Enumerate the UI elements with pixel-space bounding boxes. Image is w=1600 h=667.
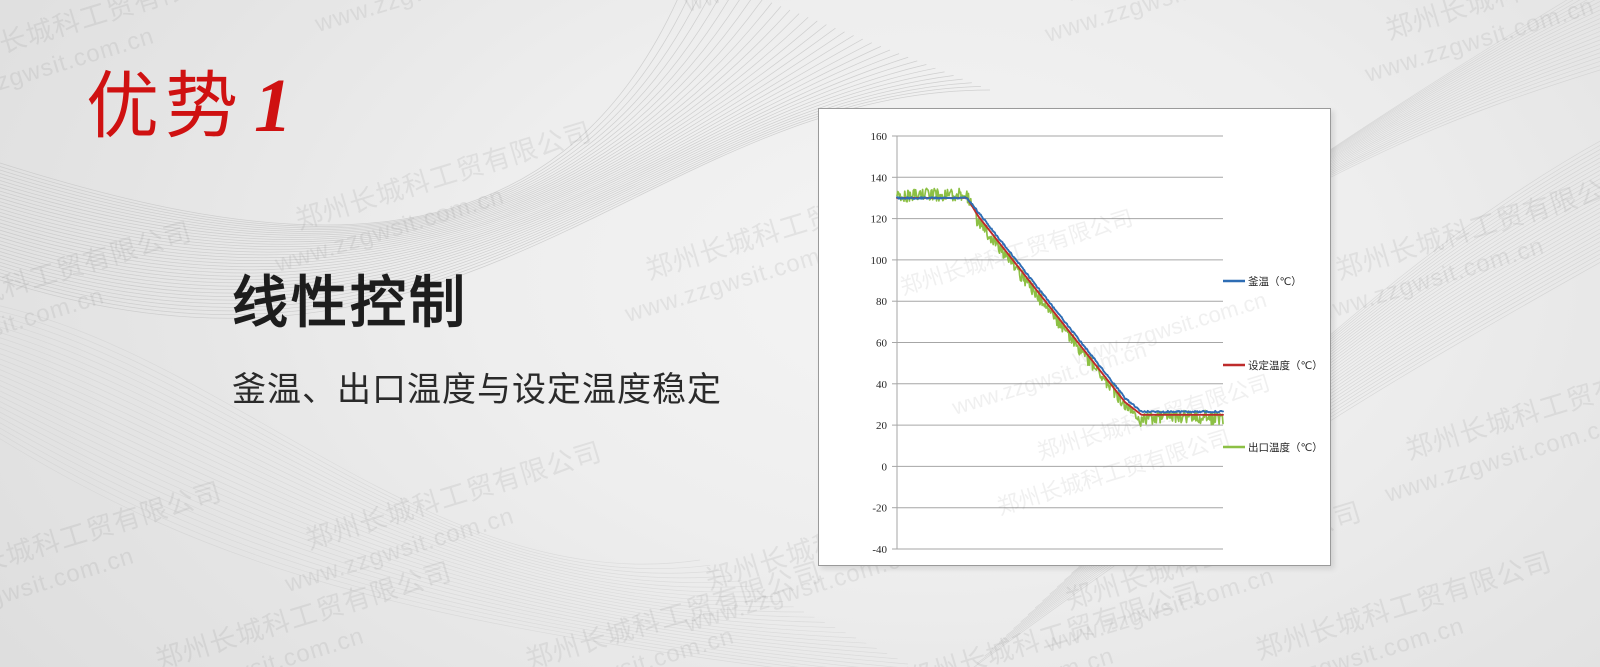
watermark-company: 郑州长城科工贸有限公司: [1380, 0, 1600, 47]
watermark-url: www.zzgwsit.com.cn: [1042, 562, 1278, 658]
legend-label: 设定温度（℃）: [1248, 359, 1323, 372]
eyebrow-label: 优势: [86, 66, 244, 147]
y-axis-tick-label: 0: [882, 461, 888, 473]
chart-inner: 160140120100806040200-20-40 郑州长城科工贸有限公司w…: [825, 115, 1324, 559]
chart-panel: 160140120100806040200-20-40 郑州长城科工贸有限公司w…: [818, 108, 1331, 566]
watermark-company: 郑州长城科工贸有限公司: [1330, 160, 1600, 287]
legend-label: 釜温（℃）: [1248, 275, 1302, 288]
watermark-url: www.zzgwsit.com.cn: [312, 0, 548, 39]
y-axis-tick-label: 160: [871, 131, 888, 143]
watermark-company: 郑州长城科工贸有限公司: [1060, 0, 1366, 7]
legend-label: 出口温度（℃）: [1248, 441, 1323, 454]
chart-series-line: [897, 188, 1223, 426]
watermark-url: www.zzgwsit.com.cn: [502, 622, 738, 667]
watermark-url: www.zzgwsit.com.cn: [272, 182, 508, 278]
y-axis-tick-label: 140: [871, 172, 888, 184]
slide-root: 郑州长城科工贸有限公司www.zzgwsit.com.cn郑州长城科工贸有限公司…: [0, 0, 1600, 667]
watermark-url: www.zzgwsit.com.cn: [1382, 412, 1600, 508]
watermark-url: www.zzgwsit.com.cn: [1232, 612, 1468, 667]
temperature-line-chart: 160140120100806040200-20-40 郑州长城科工贸有限公司w…: [825, 115, 1324, 559]
chart-series: [897, 188, 1223, 426]
chart-y-axis-ticks: 160140120100806040200-20-40: [871, 131, 888, 556]
watermark-url: www.zzgwsit.com.cn: [882, 642, 1118, 667]
chart-watermark-text: www.zzgwsit.com.cn: [1068, 287, 1269, 370]
y-axis-tick-label: 40: [876, 379, 888, 391]
eyebrow-advantage: 优势1: [86, 68, 298, 144]
chart-watermark: 郑州长城科工贸有限公司www.zzgwsit.com.cn郑州长城科工贸有限公司…: [897, 205, 1273, 520]
page-title: 线性控制: [232, 272, 468, 334]
watermark-url: www.zzgwsit.com.cn: [0, 542, 138, 638]
watermark-company: 郑州长城科工贸有限公司: [290, 110, 596, 237]
watermark-url: www.zzgwsit.com.cn: [1362, 0, 1598, 89]
y-axis-tick-label: 100: [871, 255, 888, 267]
watermark-url: www.zzgwsit.com.cn: [1312, 232, 1548, 328]
y-axis-tick-label: 80: [876, 296, 888, 308]
watermark-url: www.zzgwsit.com.cn: [1042, 0, 1278, 49]
watermark-company: 郑州长城科工贸有限公司: [0, 210, 196, 337]
page-subtitle: 釜温、出口温度与设定温度稳定: [232, 368, 722, 412]
watermark-company: 郑州长城科工贸有限公司: [300, 430, 606, 557]
y-axis-tick-label: -40: [872, 544, 887, 556]
watermark-url: www.zzgwsit.com.cn: [0, 282, 108, 378]
watermark-company: 郑州长城科工贸有限公司: [0, 470, 226, 597]
y-axis-tick-label: 20: [876, 420, 888, 432]
watermark-company: 郑州长城科工贸有限公司: [150, 550, 456, 667]
watermark-url: www.zzgwsit.com.cn: [282, 502, 518, 598]
chart-watermark-text: 郑州长城科工贸有限公司: [897, 205, 1136, 300]
watermark-url: www.zzgwsit.com.cn: [682, 0, 918, 19]
watermark-company: 郑州长城科工贸有限公司: [1400, 340, 1600, 467]
y-axis-tick-label: 60: [876, 338, 888, 350]
watermark-company: 郑州长城科工贸有限公司: [520, 550, 826, 667]
y-axis-tick-label: -20: [872, 503, 887, 515]
eyebrow-number: 1: [254, 64, 298, 148]
watermark-company: 郑州长城科工贸有限公司: [900, 570, 1206, 667]
y-axis-tick-label: 120: [871, 214, 888, 226]
watermark-url: www.zzgwsit.com.cn: [132, 622, 368, 667]
